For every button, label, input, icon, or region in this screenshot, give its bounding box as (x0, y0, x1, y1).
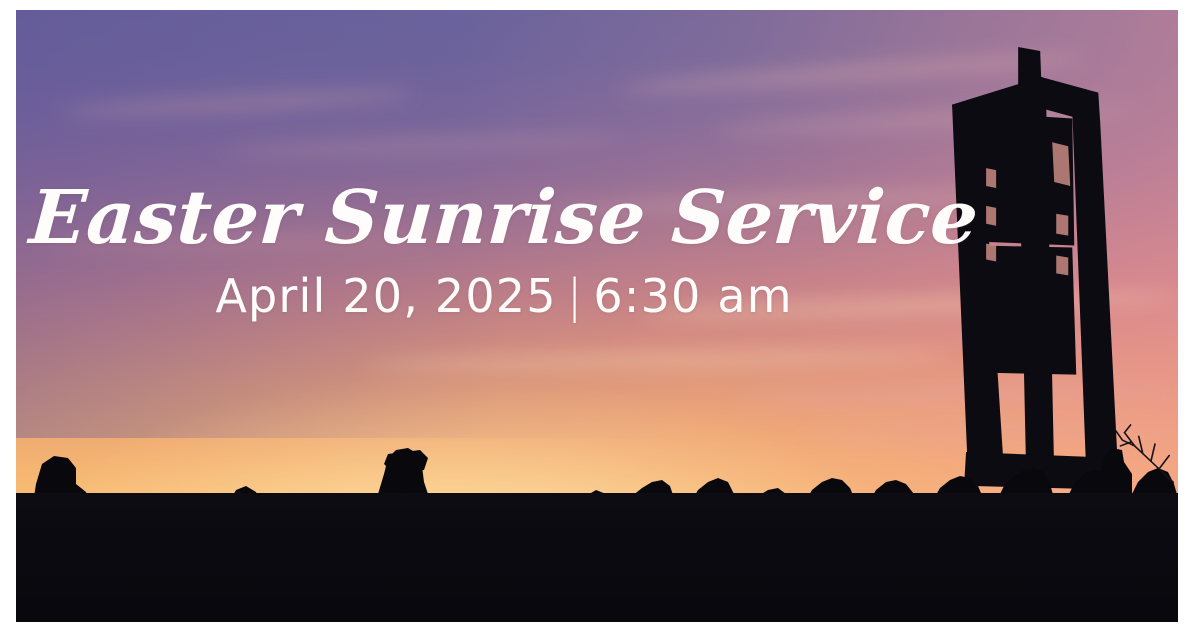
photo-frame: Easter Sunrise Service April 20, 2025|6:… (16, 10, 1178, 622)
dark-foreground-ground (16, 493, 1178, 622)
tree-branch-silhouette (1094, 423, 1175, 484)
poster-canvas: Easter Sunrise Service April 20, 2025|6:… (0, 0, 1200, 630)
